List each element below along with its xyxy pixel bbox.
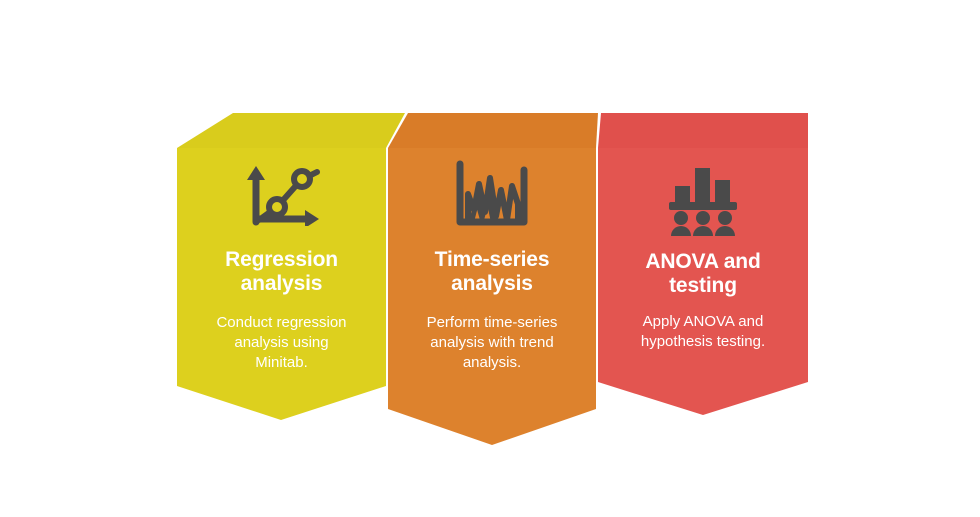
banner-anova-title: ANOVA and testing	[645, 250, 760, 298]
banner-anova-description: Apply ANOVA and hypothesis testing.	[641, 312, 765, 353]
bar-chart-people-icon	[665, 160, 741, 236]
banner-anova-content: ANOVA and testing Apply ANOVA and hypoth…	[598, 160, 808, 352]
banner-stage: Regression analysis Conduct regression a…	[0, 0, 980, 517]
banner-anova[interactable]: ANOVA and testing Apply ANOVA and hypoth…	[0, 0, 980, 517]
banner-anova-shape	[0, 0, 980, 517]
banner-anova-top-face	[598, 113, 808, 148]
infographic-root: Regression analysis Conduct regression a…	[0, 0, 980, 517]
